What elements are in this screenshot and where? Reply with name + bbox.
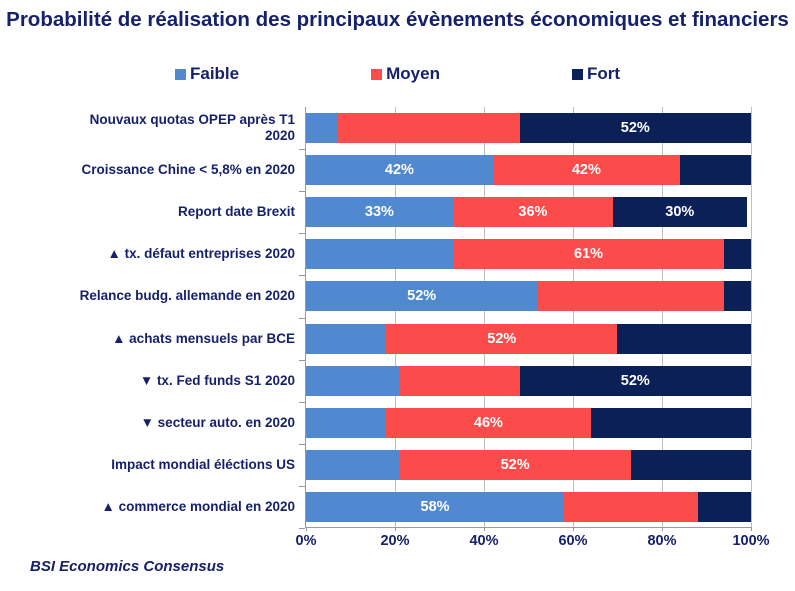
category-label: ▲ tx. défaut entreprises 2020 (5, 246, 295, 262)
bar-row: ▲ achats mensuels par BCE52% (0, 318, 795, 360)
bar-row: Relance budg. allemande en 202052% (0, 275, 795, 317)
legend-item-label: Faible (190, 64, 239, 84)
bar-segment-faible[interactable] (306, 408, 386, 438)
bar-segment-fort[interactable] (680, 155, 751, 185)
x-axis-tick (573, 527, 574, 531)
bar-segment-fort[interactable] (631, 450, 751, 480)
bar-value-label: 61% (574, 246, 603, 262)
stacked-bar: 52% (306, 281, 751, 311)
legend-swatch-fort (572, 69, 583, 80)
bar-segment-fort[interactable]: 30% (613, 197, 747, 227)
chart-legend: FaibleMoyenFort (0, 64, 795, 84)
legend-item-fort[interactable]: Fort (572, 64, 620, 84)
source-note: BSI Economics Consensus (30, 558, 224, 575)
bar-segment-faible[interactable] (306, 450, 399, 480)
x-axis-tick (662, 527, 663, 531)
category-label: Report date Brexit (5, 204, 295, 220)
bar-value-label: 58% (421, 499, 450, 515)
x-axis-tick (751, 527, 752, 531)
bar-row: Report date Brexit33%36%30% (0, 191, 795, 233)
bar-value-label: 52% (501, 457, 530, 473)
bar-segment-faible[interactable]: 33% (306, 197, 453, 227)
bar-segment-moyen[interactable] (564, 492, 698, 522)
x-axis-label: 100% (732, 533, 769, 549)
bar-value-label: 52% (407, 288, 436, 304)
bar-segment-moyen[interactable]: 46% (386, 408, 591, 438)
bar-row: Croissance Chine < 5,8% en 202042%42% (0, 149, 795, 191)
chart-title: Probabilité de réalisation des principau… (0, 6, 795, 33)
bar-segment-faible[interactable]: 58% (306, 492, 564, 522)
x-axis-label: 40% (469, 533, 498, 549)
stacked-bar: 33%36%30% (306, 197, 751, 227)
stacked-bar: 52% (306, 366, 751, 396)
bar-row: ▼ secteur auto. en 202046% (0, 402, 795, 444)
x-axis-label: 60% (558, 533, 587, 549)
bar-segment-fort[interactable] (591, 408, 751, 438)
bar-segment-fort[interactable]: 52% (520, 366, 751, 396)
legend-item-label: Moyen (386, 64, 440, 84)
stacked-bar: 61% (306, 239, 751, 269)
bar-value-label: 52% (621, 373, 650, 389)
y-axis-tick (299, 528, 305, 529)
legend-item-faible[interactable]: Faible (175, 64, 239, 84)
bar-value-label: 52% (487, 331, 516, 347)
bar-segment-moyen[interactable]: 36% (453, 197, 613, 227)
y-axis-tick (299, 486, 305, 487)
stacked-bar: 42%42% (306, 155, 751, 185)
bar-value-label: 42% (572, 162, 601, 178)
bar-value-label: 46% (474, 415, 503, 431)
bar-segment-faible[interactable] (306, 239, 453, 269)
category-label: ▲ achats mensuels par BCE (5, 331, 295, 347)
y-axis-tick (299, 360, 305, 361)
bar-value-label: 33% (365, 204, 394, 220)
bar-segment-moyen[interactable]: 61% (453, 239, 724, 269)
bar-segment-faible[interactable]: 52% (306, 281, 537, 311)
bar-segment-faible[interactable] (306, 324, 386, 354)
bar-value-label: 30% (665, 204, 694, 220)
category-label: ▼ tx. Fed funds S1 2020 (5, 373, 295, 389)
x-axis-label: 80% (647, 533, 676, 549)
y-axis-tick (299, 318, 305, 319)
x-axis-label: 20% (380, 533, 409, 549)
bar-segment-moyen[interactable] (337, 113, 519, 143)
legend-item-label: Fort (587, 64, 620, 84)
y-axis-tick (299, 149, 305, 150)
legend-swatch-moyen (371, 69, 382, 80)
stacked-bar: 58% (306, 492, 751, 522)
bar-row: Impact mondial éléctions US52% (0, 444, 795, 486)
bar-segment-moyen[interactable] (399, 366, 519, 396)
y-axis-tick (299, 402, 305, 403)
bar-row: ▲ commerce mondial en 202058% (0, 486, 795, 528)
bar-segment-fort[interactable] (698, 492, 751, 522)
bar-rows: Nouvaux quotas OPEP après T1 202052%Croi… (0, 107, 795, 528)
category-label: ▲ commerce mondial en 2020 (5, 499, 295, 515)
bar-segment-faible[interactable] (306, 113, 337, 143)
bar-segment-moyen[interactable]: 42% (493, 155, 680, 185)
bar-segment-fort[interactable] (724, 281, 751, 311)
bar-segment-moyen[interactable]: 52% (399, 450, 630, 480)
stacked-bar: 52% (306, 450, 751, 480)
bar-row: Nouvaux quotas OPEP après T1 202052% (0, 107, 795, 149)
category-label: ▼ secteur auto. en 2020 (5, 415, 295, 431)
y-axis-tick (299, 233, 305, 234)
legend-item-moyen[interactable]: Moyen (371, 64, 440, 84)
x-axis-tick (484, 527, 485, 531)
stacked-bar: 52% (306, 113, 751, 143)
bar-segment-fort[interactable] (724, 239, 751, 269)
bar-row: ▲ tx. défaut entreprises 202061% (0, 233, 795, 275)
bar-segment-moyen[interactable]: 52% (386, 324, 617, 354)
bar-value-label: 36% (518, 204, 547, 220)
x-axis-tick (395, 527, 396, 531)
category-label: Relance budg. allemande en 2020 (5, 288, 295, 304)
bar-segment-fort[interactable] (617, 324, 751, 354)
stacked-bar: 46% (306, 408, 751, 438)
y-axis-tick (299, 444, 305, 445)
category-label: Croissance Chine < 5,8% en 2020 (5, 162, 295, 178)
x-axis-label: 0% (296, 533, 317, 549)
category-label: Impact mondial éléctions US (5, 457, 295, 473)
bar-segment-faible[interactable] (306, 366, 399, 396)
x-axis: 0%20%40%60%80%100% (306, 531, 751, 553)
legend-swatch-faible (175, 69, 186, 80)
y-axis-tick (299, 275, 305, 276)
y-axis-tick (299, 191, 305, 192)
bar-segment-faible[interactable]: 42% (306, 155, 493, 185)
bar-value-label: 52% (621, 120, 650, 136)
bar-segment-moyen[interactable] (537, 281, 724, 311)
category-label: Nouvaux quotas OPEP après T1 2020 (5, 112, 295, 144)
bar-row: ▼ tx. Fed funds S1 202052% (0, 360, 795, 402)
x-axis-tick (306, 527, 307, 531)
chart-container: Probabilité de réalisation des principau… (0, 0, 795, 591)
bar-value-label: 42% (385, 162, 414, 178)
stacked-bar: 52% (306, 324, 751, 354)
bar-segment-fort[interactable]: 52% (520, 113, 751, 143)
